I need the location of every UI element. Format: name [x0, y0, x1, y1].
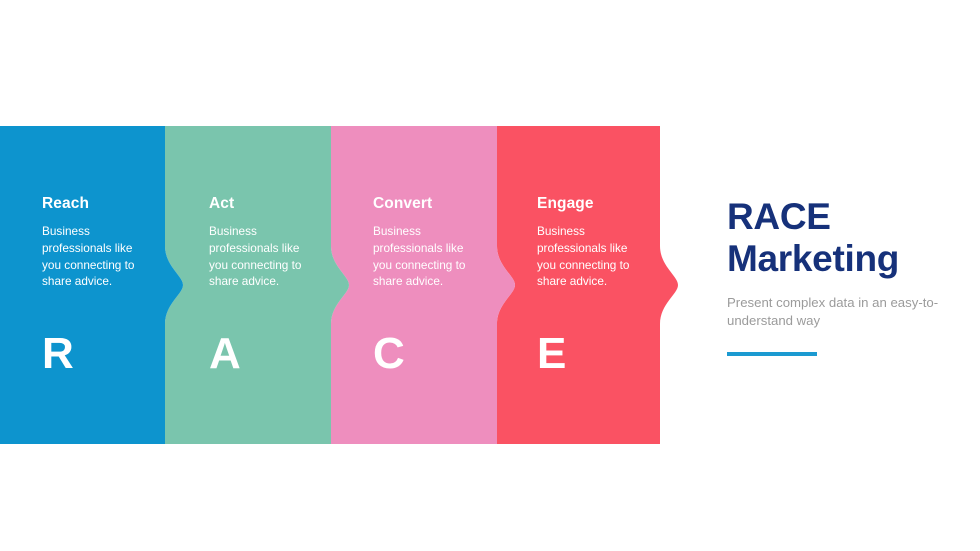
- page-title-line-1: RACE: [727, 196, 967, 238]
- page-subtitle: Present complex data in an easy-to-under…: [727, 294, 939, 330]
- panel-convert[interactable]: Convert Business professionals like you …: [373, 126, 483, 444]
- panel-letter-act: A: [209, 332, 241, 376]
- panel-act[interactable]: Act Business professionals like you conn…: [209, 126, 319, 444]
- panel-heading-reach: Reach: [42, 196, 89, 212]
- accent-rule: [727, 352, 817, 356]
- panel-heading-engage: Engage: [537, 196, 594, 212]
- panel-heading-convert: Convert: [373, 196, 432, 212]
- panel-body-reach: Business professionals like you connecti…: [42, 223, 150, 290]
- panel-engage[interactable]: Engage Business professionals like you c…: [537, 126, 647, 444]
- panel-body-act: Business professionals like you connecti…: [209, 223, 317, 290]
- panel-body-convert: Business professionals like you connecti…: [373, 223, 481, 290]
- title-block: RACE Marketing Present complex data in a…: [727, 196, 967, 356]
- panel-letter-engage: E: [537, 332, 567, 376]
- page-title: RACE Marketing: [727, 196, 967, 280]
- panel-letter-convert: C: [373, 332, 405, 376]
- panel-heading-act: Act: [209, 196, 234, 212]
- panel-body-engage: Business professionals like you connecti…: [537, 223, 645, 290]
- panel-reach[interactable]: Reach Business professionals like you co…: [42, 126, 152, 444]
- panel-letter-reach: R: [42, 332, 74, 376]
- slide-canvas: Reach Business professionals like you co…: [0, 0, 980, 551]
- race-panels-group: Reach Business professionals like you co…: [0, 126, 690, 444]
- page-title-line-2: Marketing: [727, 238, 967, 280]
